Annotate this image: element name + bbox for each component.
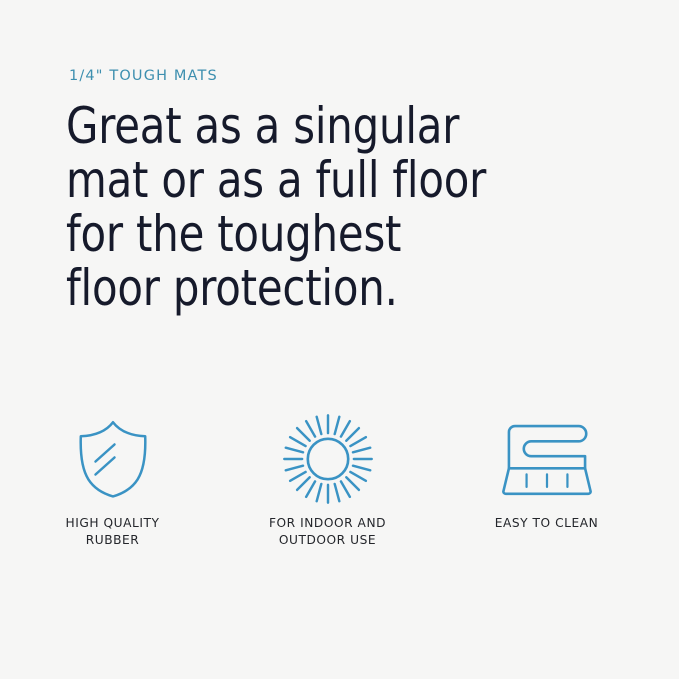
eyebrow-label: 1/4" TOUGH MATS	[69, 68, 218, 84]
feature-item-high-quality-rubber: HIGH QUALITY RUBBER	[0, 405, 225, 549]
shield-icon	[76, 405, 150, 513]
feature-list: HIGH QUALITY RUBBER	[0, 405, 679, 549]
sun-icon	[281, 405, 375, 513]
page-title: Great as a singular mat or as a full flo…	[66, 99, 606, 315]
headline-line-4: floor protection.	[66, 261, 568, 315]
feature-caption: HIGH QUALITY RUBBER	[66, 515, 160, 549]
product-feature-banner: 1/4" TOUGH MATS Great as a singular mat …	[0, 0, 679, 679]
feature-caption: EASY TO CLEAN	[495, 515, 599, 532]
feature-item-indoor-outdoor: FOR INDOOR AND OUTDOOR USE	[225, 405, 430, 549]
feature-caption: FOR INDOOR AND OUTDOOR USE	[269, 515, 386, 549]
headline-line-1: Great as a singular	[66, 99, 568, 153]
scrub-brush-icon	[500, 405, 594, 513]
headline-line-2: mat or as a full floor	[66, 153, 568, 207]
feature-item-easy-to-clean: EASY TO CLEAN	[444, 405, 649, 532]
headline-line-3: for the toughest	[66, 207, 568, 261]
